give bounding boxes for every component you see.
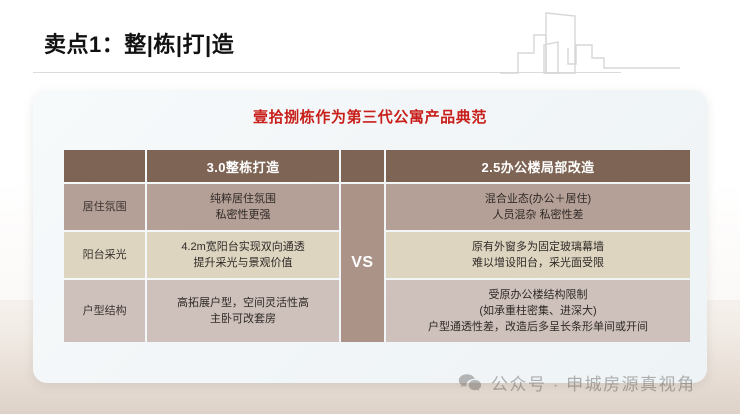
row-right-1: 原有外窗多为固定玻璃幕墙 难以增设阳台，采光面受限 xyxy=(386,232,690,278)
page-title: 卖点1：整|栋|打|造 xyxy=(44,30,644,60)
slide-root: 卖点1：整|栋|打|造 壹拾捌栋作为第三代公寓产品典范 xyxy=(0,0,740,414)
header-middle xyxy=(341,150,384,182)
comparison-card: 壹拾捌栋作为第三代公寓产品典范 3.0整栋打造 2.5办公楼局部改造 居住氛围 xyxy=(33,90,707,383)
row-left-0: 纯粹居住氛围 私密性更强 xyxy=(147,184,339,230)
row-right-2-line-0: 受原办公楼结构限制 xyxy=(386,287,690,303)
row-left-1-line-0: 4.2m宽阳台实现双向通透 xyxy=(147,239,339,255)
row-left-1-line-1: 提升采光与景观价值 xyxy=(147,255,339,271)
row-right-2-line-1: (如承重柱密集、进深大) xyxy=(386,303,690,319)
row-right-0-line-1: 人员混杂 私密性差 xyxy=(386,207,690,223)
row-right-0-line-0: 混合业态(办公＋居住) xyxy=(386,191,690,207)
page-title-wrap: 卖点1：整|栋|打|造 xyxy=(44,30,644,60)
header-right: 2.5办公楼局部改造 xyxy=(386,150,690,182)
row-left-2-line-1: 主卧可改套房 xyxy=(147,311,339,327)
row-right-2: 受原办公楼结构限制 (如承重柱密集、进深大) 户型通透性差，改造后多呈长条形单间… xyxy=(386,280,690,342)
row-right-2-line-2: 户型通透性差，改造后多呈长条形单间或开间 xyxy=(386,319,690,335)
vs-divider-cell: VS xyxy=(341,184,384,342)
row-right-1-line-1: 难以增设阳台，采光面受限 xyxy=(386,255,690,271)
row-left-2-line-0: 高拓展户型，空间灵活性高 xyxy=(147,295,339,311)
row-left-1: 4.2m宽阳台实现双向通透 提升采光与景观价值 xyxy=(147,232,339,278)
header-left: 3.0整栋打造 xyxy=(147,150,339,182)
row-label-0: 居住氛围 xyxy=(64,184,145,230)
card-heading: 壹拾捌栋作为第三代公寓产品典范 xyxy=(33,106,707,127)
row-right-1-line-0: 原有外窗多为固定玻璃幕墙 xyxy=(386,239,690,255)
row-left-2: 高拓展户型，空间灵活性高 主卧可改套房 xyxy=(147,280,339,342)
comparison-table: 3.0整栋打造 2.5办公楼局部改造 居住氛围 纯粹居住氛围 私密性更强 VS … xyxy=(62,148,692,344)
header-corner-cell xyxy=(64,150,145,182)
table-row: 居住氛围 纯粹居住氛围 私密性更强 VS 混合业态(办公＋居住) 人员混杂 私密… xyxy=(64,184,690,230)
table-header-row: 3.0整栋打造 2.5办公楼局部改造 xyxy=(64,150,690,182)
row-label-2: 户型结构 xyxy=(64,280,145,342)
row-label-1: 阳台采光 xyxy=(64,232,145,278)
row-left-0-line-1: 私密性更强 xyxy=(147,207,339,223)
row-right-0: 混合业态(办公＋居住) 人员混杂 私密性差 xyxy=(386,184,690,230)
row-left-0-line-0: 纯粹居住氛围 xyxy=(147,191,339,207)
title-divider xyxy=(33,72,621,73)
